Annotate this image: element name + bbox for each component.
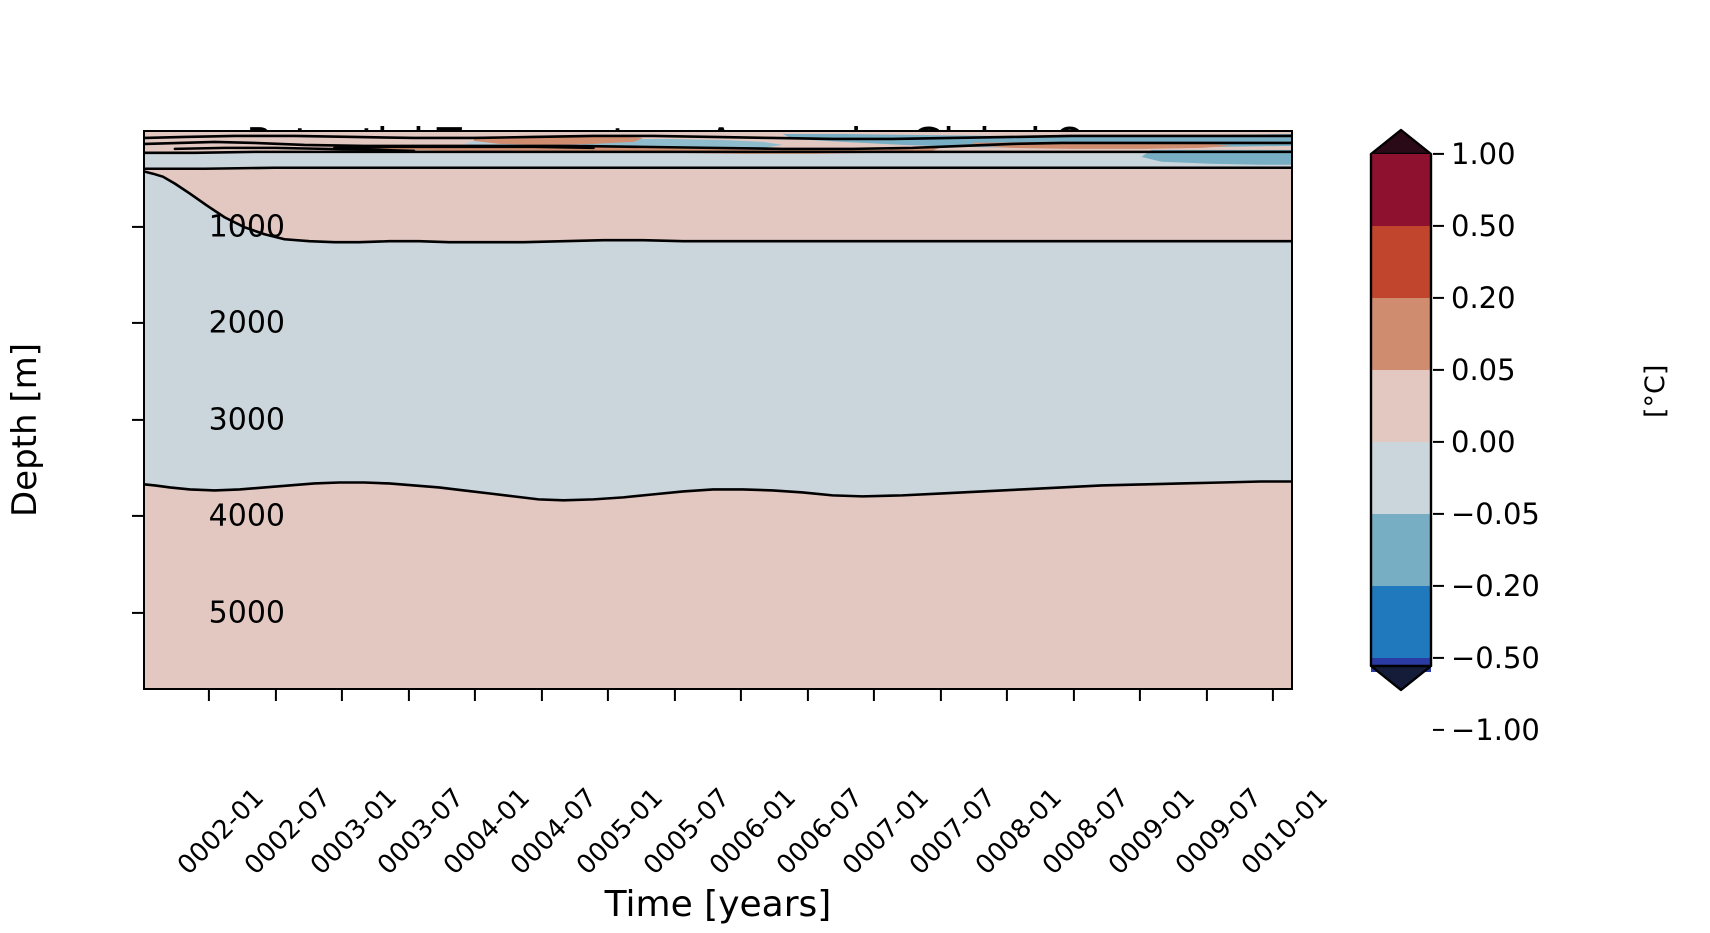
x-tick-mark: [1139, 690, 1141, 701]
colorbar-tick-mark: [1433, 297, 1444, 299]
y-tick-mark: [132, 322, 143, 324]
y-tick-label: 2000: [209, 306, 285, 341]
y-tick-mark: [132, 612, 143, 614]
plot-area: [143, 130, 1293, 690]
x-tick-mark: [1006, 690, 1008, 701]
colorbar-tick-mark: [1433, 513, 1444, 515]
colorbar-tick-mark: [1433, 657, 1444, 659]
x-tick-mark: [474, 690, 476, 701]
colorbar-tick-mark: [1433, 585, 1444, 587]
y-tick-label: 5000: [209, 595, 285, 630]
x-tick-mark: [540, 690, 542, 701]
x-tick-mark: [806, 690, 808, 701]
colorbar-tick-mark: [1433, 369, 1444, 371]
x-tick-mark: [407, 690, 409, 701]
colorbar-tick-label: 0.05: [1451, 353, 1516, 387]
x-tick-mark: [1072, 690, 1074, 701]
colorbar-tick-label: −0.20: [1451, 569, 1540, 603]
y-tick-label: 3000: [209, 402, 285, 437]
x-tick-mark: [939, 690, 941, 701]
colorbar-gradient: [1369, 128, 1433, 692]
colorbar-tick-mark: [1433, 729, 1444, 731]
colorbar-tick-label: 0.00: [1451, 425, 1516, 459]
colorbar-tick-label: −0.05: [1451, 497, 1540, 531]
colorbar-tick-mark: [1433, 441, 1444, 443]
colorbar-tick-label: −1.00: [1451, 713, 1540, 747]
colorbar-tick-label: 1.00: [1451, 137, 1516, 171]
y-tick-mark: [132, 419, 143, 421]
y-tick-mark: [132, 225, 143, 227]
colorbar-unit-label: [°C]: [1640, 365, 1671, 418]
y-tick-label: 1000: [209, 209, 285, 244]
colorbar: 1.000.500.200.050.00−0.05−0.20−0.50−1.00: [1369, 128, 1433, 692]
colorbar-tick-label: 0.20: [1451, 281, 1516, 315]
x-tick-mark: [208, 690, 210, 701]
x-tick-mark: [1272, 690, 1274, 701]
colorbar-tick-label: 0.50: [1451, 209, 1516, 243]
x-tick-mark: [873, 690, 875, 701]
x-tick-mark: [673, 690, 675, 701]
y-tick-label: 4000: [209, 499, 285, 534]
x-tick-mark: [274, 690, 276, 701]
colorbar-tick-mark: [1433, 153, 1444, 155]
colorbar-tick-mark: [1433, 225, 1444, 227]
x-tick-mark: [1205, 690, 1207, 701]
x-tick-mark: [341, 690, 343, 701]
colorbar-tick-label: −0.50: [1451, 641, 1540, 675]
x-tick-mark: [740, 690, 742, 701]
y-axis-label: Depth [m]: [5, 343, 45, 517]
figure-canvas: Potential Temperature Anomaly, Global Oc…: [0, 0, 1710, 933]
y-tick-mark: [132, 515, 143, 517]
x-tick-mark: [607, 690, 609, 701]
x-axis-label: Time [years]: [143, 884, 1293, 925]
contour-plot: [145, 132, 1291, 688]
